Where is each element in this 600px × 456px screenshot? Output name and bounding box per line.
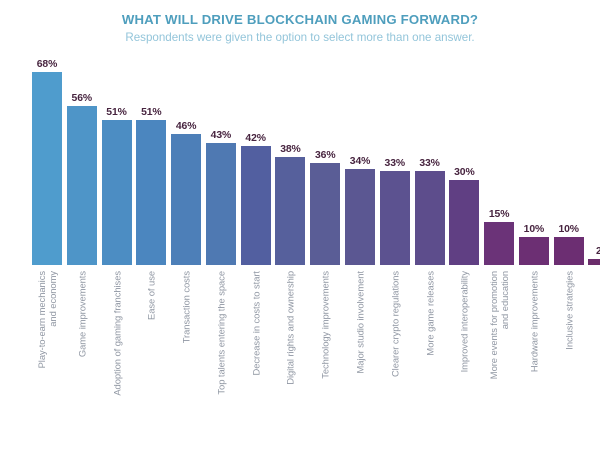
category-label: Inclusive strategies xyxy=(554,271,584,451)
bar-group[interactable]: 38% xyxy=(275,157,305,265)
bar-value-label: 33% xyxy=(385,158,406,169)
category-label-text: Game improvements xyxy=(76,271,87,449)
category-label: Play-to-earn mechanics and economy xyxy=(32,271,62,451)
category-label-text: Adoption of gaming franchises xyxy=(111,271,122,449)
category-label-text: Inclusive strategies xyxy=(563,271,574,449)
chart-container: WHAT WILL DRIVE BLOCKCHAIN GAMING FORWAR… xyxy=(0,0,600,456)
bar[interactable] xyxy=(32,72,62,265)
bar-value-label: 42% xyxy=(245,133,266,144)
bar-group[interactable]: 43% xyxy=(206,143,236,265)
category-label: More game releases xyxy=(415,271,445,451)
bar-value-label: 51% xyxy=(106,107,127,118)
category-label-text: Top talents entering the space xyxy=(215,271,226,449)
bar[interactable] xyxy=(588,259,600,265)
category-label: Clearer crypto regulations xyxy=(380,271,410,451)
bar-group[interactable]: 2% xyxy=(588,259,600,265)
bar-value-label: 30% xyxy=(454,167,475,178)
bar-group[interactable]: 34% xyxy=(345,169,375,266)
bar-value-label: 36% xyxy=(315,150,336,161)
bar[interactable] xyxy=(310,163,340,265)
bar-group[interactable]: 36% xyxy=(310,163,340,265)
bar-group[interactable]: 51% xyxy=(136,120,166,265)
bar-value-label: 2% xyxy=(596,246,600,257)
bar-value-label: 34% xyxy=(350,156,371,167)
bar-group[interactable]: 15% xyxy=(484,222,514,265)
bar-value-label: 46% xyxy=(176,121,197,132)
bar-group[interactable]: 46% xyxy=(171,134,201,265)
bar-value-label: 68% xyxy=(37,59,58,70)
bar[interactable] xyxy=(484,222,514,265)
category-label-text: Clearer crypto regulations xyxy=(389,271,400,449)
bar[interactable] xyxy=(519,237,549,265)
category-label-text: More game releases xyxy=(424,271,435,449)
category-label: Hardware improvements xyxy=(519,271,549,451)
category-label: Technology improvements xyxy=(310,271,340,451)
bar[interactable] xyxy=(275,157,305,265)
category-label: Don't know / No answer xyxy=(588,271,600,451)
category-label: Transaction costs xyxy=(171,271,201,451)
category-label: Major studio involvement xyxy=(345,271,375,451)
bar-group[interactable]: 56% xyxy=(67,106,97,265)
category-label: Improved interoperability xyxy=(449,271,479,451)
bar-value-label: 10% xyxy=(524,224,545,235)
bar-value-label: 10% xyxy=(558,224,579,235)
category-label: More events for promotion and education xyxy=(484,271,514,451)
bar-group[interactable]: 33% xyxy=(415,171,445,265)
bar-group[interactable]: 68% xyxy=(32,72,62,265)
bar-value-label: 15% xyxy=(489,209,510,220)
bar-group[interactable]: 10% xyxy=(519,237,549,265)
bar-group[interactable]: 51% xyxy=(102,120,132,265)
category-label-text: More events for promotion and education xyxy=(488,271,510,449)
category-label: Game improvements xyxy=(67,271,97,451)
category-label-text: Play-to-earn mechanics and economy xyxy=(36,271,58,449)
category-label-text: Improved interoperability xyxy=(459,271,470,449)
bar-value-label: 38% xyxy=(280,144,301,155)
bar-value-label: 56% xyxy=(72,93,93,104)
bar-value-label: 43% xyxy=(211,130,232,141)
category-label-text: Transaction costs xyxy=(181,271,192,449)
bar-value-label: 51% xyxy=(141,107,162,118)
bar-group[interactable]: 42% xyxy=(241,146,271,265)
bar[interactable] xyxy=(449,180,479,265)
category-label-text: Ease of use xyxy=(146,271,157,449)
category-label-text: Decrease in costs to start xyxy=(250,271,261,449)
category-label: Ease of use xyxy=(136,271,166,451)
bar[interactable] xyxy=(206,143,236,265)
bar[interactable] xyxy=(136,120,166,265)
bar-value-label: 33% xyxy=(419,158,440,169)
category-label-text: Hardware improvements xyxy=(528,271,539,449)
bar[interactable] xyxy=(415,171,445,265)
bar[interactable] xyxy=(241,146,271,265)
bar[interactable] xyxy=(554,237,584,265)
bar[interactable] xyxy=(171,134,201,265)
category-label: Digital rights and ownership xyxy=(275,271,305,451)
bar-group[interactable]: 33% xyxy=(380,171,410,265)
category-label-text: Technology improvements xyxy=(320,271,331,449)
bar-group[interactable]: 10% xyxy=(554,237,584,265)
bar-group[interactable]: 30% xyxy=(449,180,479,265)
category-label: Decrease in costs to start xyxy=(241,271,271,451)
category-label: Top talents entering the space xyxy=(206,271,236,451)
plot-area: 68%Play-to-earn mechanics and economy56%… xyxy=(0,0,600,456)
bar[interactable] xyxy=(102,120,132,265)
bar[interactable] xyxy=(380,171,410,265)
category-label-text: Major studio involvement xyxy=(355,271,366,449)
category-label-text: Digital rights and ownership xyxy=(285,271,296,449)
bar[interactable] xyxy=(345,169,375,266)
bar[interactable] xyxy=(67,106,97,265)
category-label: Adoption of gaming franchises xyxy=(102,271,132,451)
